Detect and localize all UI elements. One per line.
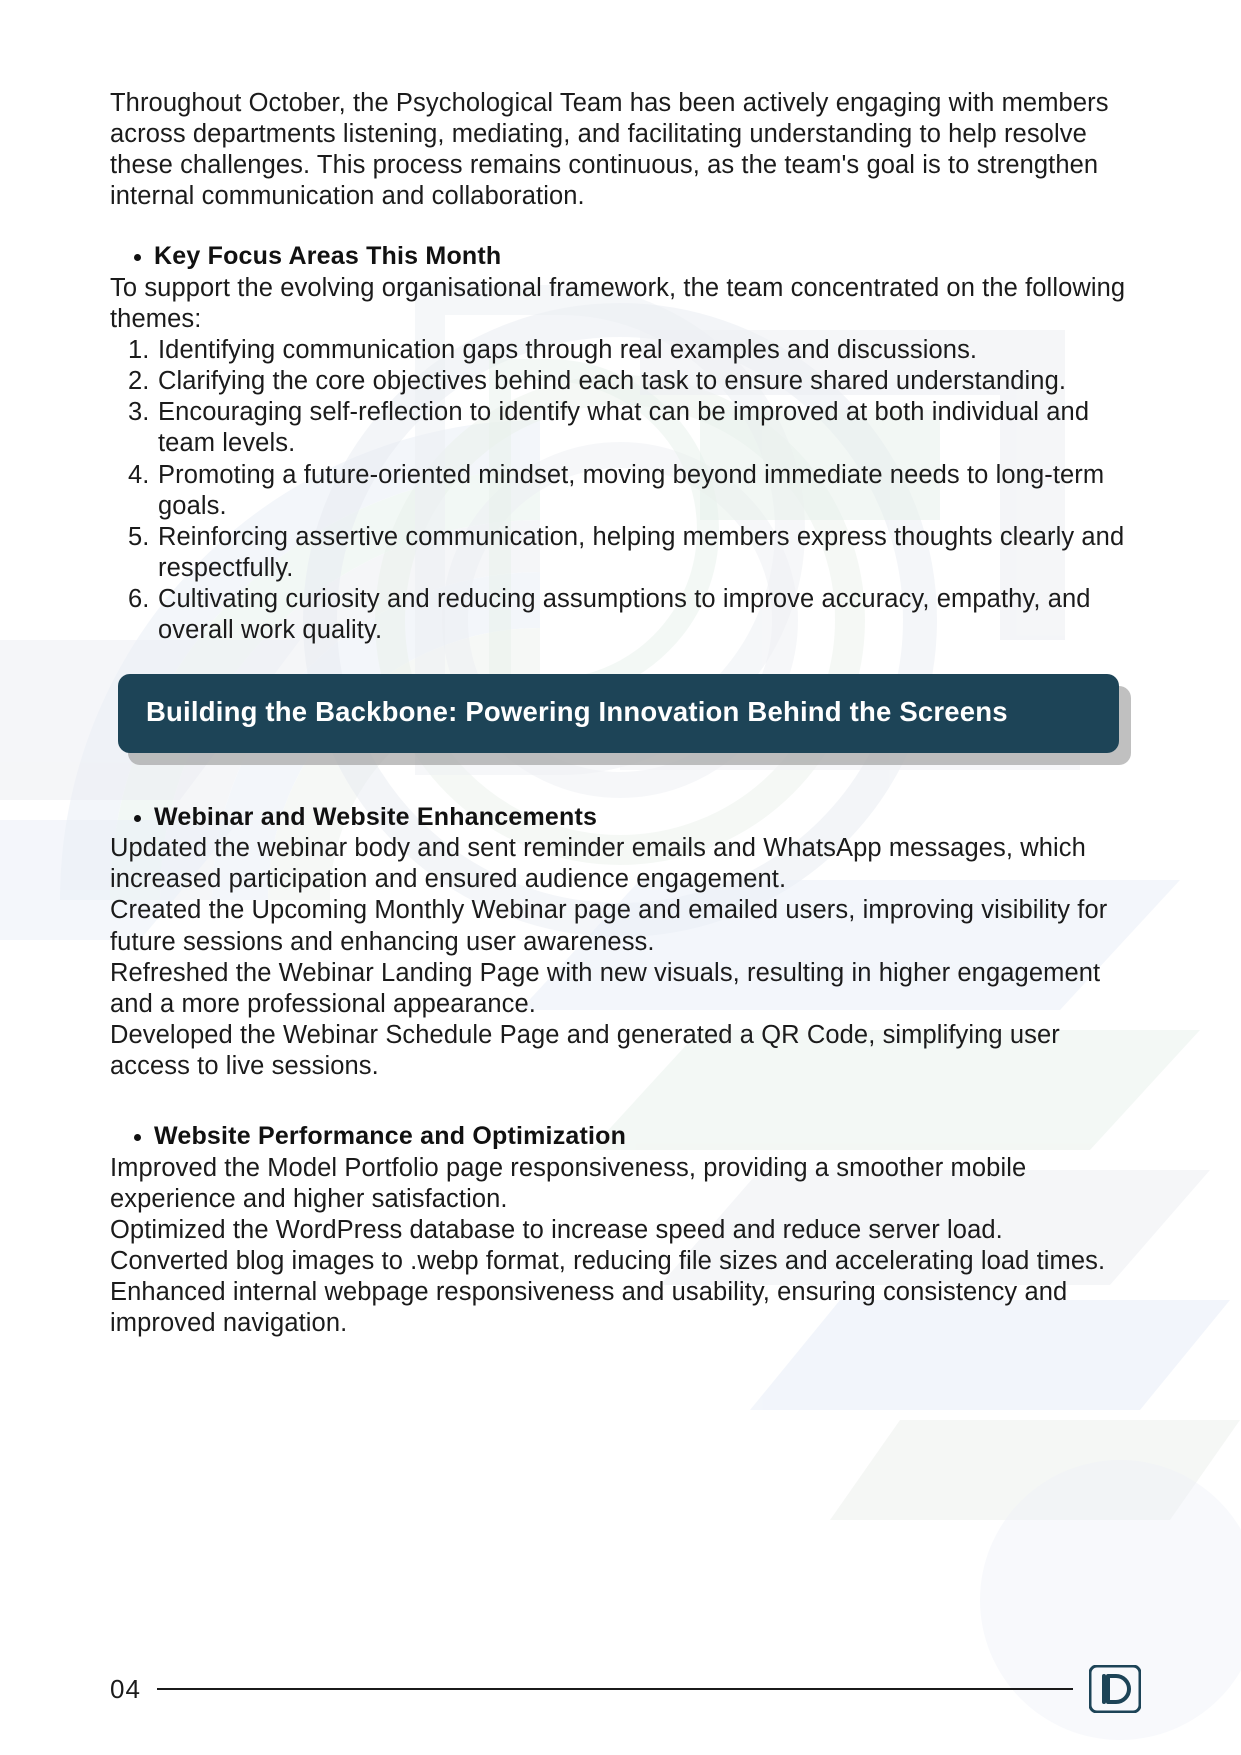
list-item: Encouraging self-reflection to identify … <box>110 397 1131 459</box>
page-content: Throughout October, the Psychological Te… <box>0 0 1241 1339</box>
footer-divider <box>157 1688 1073 1690</box>
key-focus-heading-list: Key Focus Areas This Month <box>110 240 1131 273</box>
webinar-heading-list: Webinar and Website Enhancements <box>110 801 1131 834</box>
key-focus-items: Identifying communication gaps through r… <box>110 335 1131 646</box>
section-banner: Building the Backbone: Powering Innovati… <box>118 674 1119 752</box>
webinar-paragraph: Refreshed the Webinar Landing Page with … <box>110 958 1131 1020</box>
performance-heading-list: Website Performance and Optimization <box>110 1120 1131 1153</box>
page-footer: 04 <box>110 1665 1141 1713</box>
performance-paragraph: Optimized the WordPress database to incr… <box>110 1215 1131 1246</box>
list-item: Clarifying the core objectives behind ea… <box>110 366 1131 397</box>
performance-paragraph: Improved the Model Portfolio page respon… <box>110 1153 1131 1215</box>
list-item: Promoting a future-oriented mindset, mov… <box>110 460 1131 522</box>
webinar-paragraph: Updated the webinar body and sent remind… <box>110 833 1131 895</box>
page-number: 04 <box>110 1674 141 1705</box>
key-focus-heading: Key Focus Areas This Month <box>154 240 1131 273</box>
performance-paragraph: Enhanced internal webpage responsiveness… <box>110 1277 1131 1339</box>
list-item: Reinforcing assertive communication, hel… <box>110 522 1131 584</box>
brand-logo-icon <box>1089 1665 1141 1713</box>
performance-section-heading: Website Performance and Optimization <box>154 1120 1131 1153</box>
banner-title: Building the Backbone: Powering Innovati… <box>146 696 1091 728</box>
performance-paragraph: Converted blog images to .webp format, r… <box>110 1246 1131 1277</box>
webinar-paragraph: Developed the Webinar Schedule Page and … <box>110 1020 1131 1082</box>
key-focus-lead-in: To support the evolving organisational f… <box>110 273 1131 335</box>
banner-body: Building the Backbone: Powering Innovati… <box>118 674 1119 752</box>
list-item: Cultivating curiosity and reducing assum… <box>110 584 1131 646</box>
newsletter-page: Throughout October, the Psychological Te… <box>0 0 1241 1755</box>
webinar-paragraph: Created the Upcoming Monthly Webinar pag… <box>110 895 1131 957</box>
webinar-section-heading: Webinar and Website Enhancements <box>154 801 1131 834</box>
list-item: Identifying communication gaps through r… <box>110 335 1131 366</box>
intro-paragraph: Throughout October, the Psychological Te… <box>110 88 1131 212</box>
